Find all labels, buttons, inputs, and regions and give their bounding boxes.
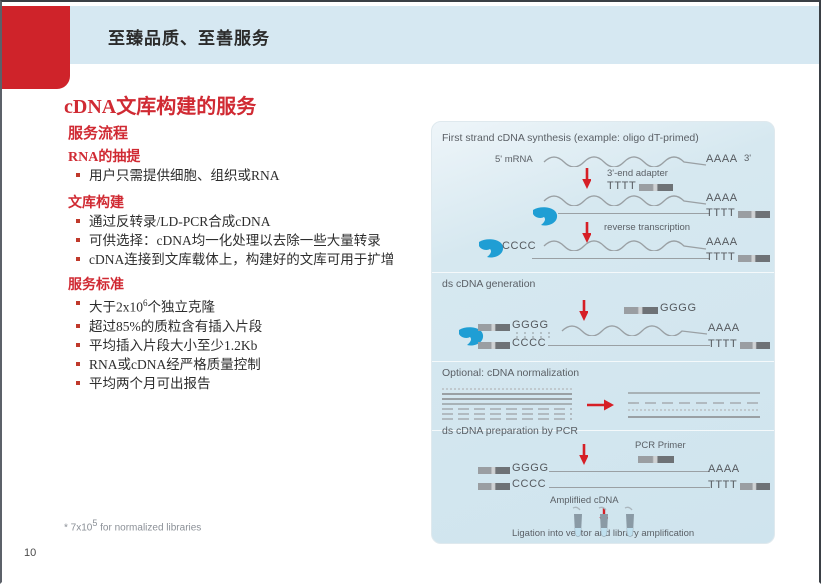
mrna-wave-1	[542, 151, 709, 167]
footnote-tail: for normalized libraries	[97, 522, 201, 533]
adapter-bar-2	[738, 211, 770, 218]
cdna-workflow-diagram: First strand cDNA synthesis (example: ol…	[431, 121, 775, 544]
section-heading-service-flow: 服务流程	[68, 122, 128, 143]
panel-title-pcr-prep: ds cDNA preparation by PCR	[442, 425, 578, 437]
label-gggg-2: GGGG	[512, 462, 549, 474]
label-amplified-cdna: Ampliflied cDNA	[550, 495, 619, 506]
list-item: 平均两个月可出报告	[74, 374, 262, 393]
cdna-line-1	[558, 213, 710, 214]
gel-bands-before-icon	[442, 387, 574, 421]
cdna-line-2	[532, 258, 710, 259]
bullet-list-library: 通过反转录/LD-PCR合成cDNA 可供选择：cDNA均一化处理以去除一些大量…	[74, 212, 394, 269]
pcr-primer-bar	[638, 456, 674, 463]
section-heading-service-standards: 服务标准	[68, 274, 124, 294]
gel-bands-after-icon	[628, 390, 762, 420]
microcentrifuge-tubes-icon	[568, 506, 644, 544]
section-heading-library-construction: 文库构建	[68, 192, 124, 212]
label-cccc-2: CCCC	[512, 337, 546, 349]
page-title: cDNA文库构建的服务	[64, 90, 256, 119]
label-reverse-transcription: reverse transcription	[604, 222, 690, 233]
label-aaaa-1: AAAA	[706, 153, 738, 165]
header-title: 至臻品质、至善服务	[108, 24, 270, 49]
panel-divider-1	[432, 272, 774, 273]
list-item: 用户只需提供细胞、组织或RNA	[74, 166, 280, 185]
panel-divider-2	[432, 361, 774, 362]
adapter-bar-4	[624, 307, 658, 314]
list-item: 通过反转录/LD-PCR合成cDNA	[74, 212, 394, 231]
footnote: * 7x105 for normalized libraries	[64, 518, 201, 533]
mrna-wave-2	[542, 190, 709, 206]
label-aaaa-2: AAAA	[706, 192, 738, 204]
arrow-down-icon-3	[578, 300, 588, 322]
cdna-line-5	[549, 487, 710, 488]
list-item: cDNA连接到文库载体上，构建好的文库可用于扩增	[74, 250, 394, 269]
label-3prime: 3'	[744, 153, 751, 164]
label-5prime-mrna: 5' mRNA	[495, 154, 533, 165]
label-pcr-primer: PCR Primer	[635, 440, 686, 451]
cdna-line-4	[549, 471, 710, 472]
label-tttt-3: TTTT	[706, 251, 735, 263]
section-heading-rna-extraction: RNA的抽提	[68, 146, 140, 166]
adapter-bar-10	[740, 483, 770, 490]
label-tttt-2: TTTT	[706, 207, 735, 219]
mrna-wave-4	[560, 320, 710, 336]
bullet-list-standards: 大于2x106个独立克隆 超过85%的质粒含有插入片段 平均插入片段大小至少1.…	[74, 294, 262, 393]
panel-title-ds-generation: ds cDNA generation	[442, 278, 535, 290]
panel-title-normalization: Optional: cDNA normalization	[442, 367, 579, 379]
arrow-right-icon	[587, 398, 615, 412]
list-item: 超过85%的质粒含有插入片段	[74, 317, 262, 336]
label-gggg-1: GGGG	[512, 319, 549, 331]
reverse-transcriptase-enzyme-icon-1	[530, 206, 560, 228]
std-text-pre: 大于2x10	[89, 300, 143, 315]
list-item: 大于2x106个独立克隆	[74, 294, 262, 317]
brand-red-block	[2, 6, 70, 89]
list-item: RNA或cDNA经严格质量控制	[74, 355, 262, 374]
arrow-down-icon-1	[581, 168, 591, 190]
label-aaaa-4: AAAA	[708, 322, 740, 334]
adapter-bar-3	[738, 255, 770, 262]
list-item: 可供选择：cDNA均一化处理以去除一些大量转录	[74, 231, 394, 250]
slide-canvas: 至臻品质、至善服务 cDNA文库构建的服务 服务流程 RNA的抽提 用户只需提供…	[0, 0, 821, 584]
list-item: 平均插入片段大小至少1.2Kb	[74, 336, 262, 355]
adapter-bar-9	[478, 483, 510, 490]
mrna-wave-3	[542, 235, 709, 251]
std-text-post: 个独立克隆	[148, 300, 216, 315]
bullet-list-rna: 用户只需提供细胞、组织或RNA	[74, 166, 280, 185]
label-gggg-top: GGGG	[660, 302, 697, 314]
label-cccc-3: CCCC	[512, 478, 546, 490]
adapter-bar-6	[478, 342, 510, 349]
adapter-bar-8	[478, 467, 510, 474]
label-tttt-4: TTTT	[708, 338, 737, 350]
label-3prime-end-adapter: 3'-end adapter	[607, 168, 668, 179]
label-tttt-5: TTTT	[708, 479, 737, 491]
footnote-pre: * 7x10	[64, 522, 92, 533]
page-number: 10	[24, 547, 36, 559]
cdna-line-3	[548, 345, 710, 346]
arrow-down-icon-4	[578, 444, 588, 466]
panel-title-first-strand: First strand cDNA synthesis (example: ol…	[442, 132, 699, 144]
label-aaaa-3: AAAA	[706, 236, 738, 248]
adapter-bar-5	[478, 324, 510, 331]
label-aaaa-5: AAAA	[708, 463, 740, 475]
label-cccc-1: CCCC	[502, 240, 536, 252]
adapter-bar-7	[740, 342, 770, 349]
